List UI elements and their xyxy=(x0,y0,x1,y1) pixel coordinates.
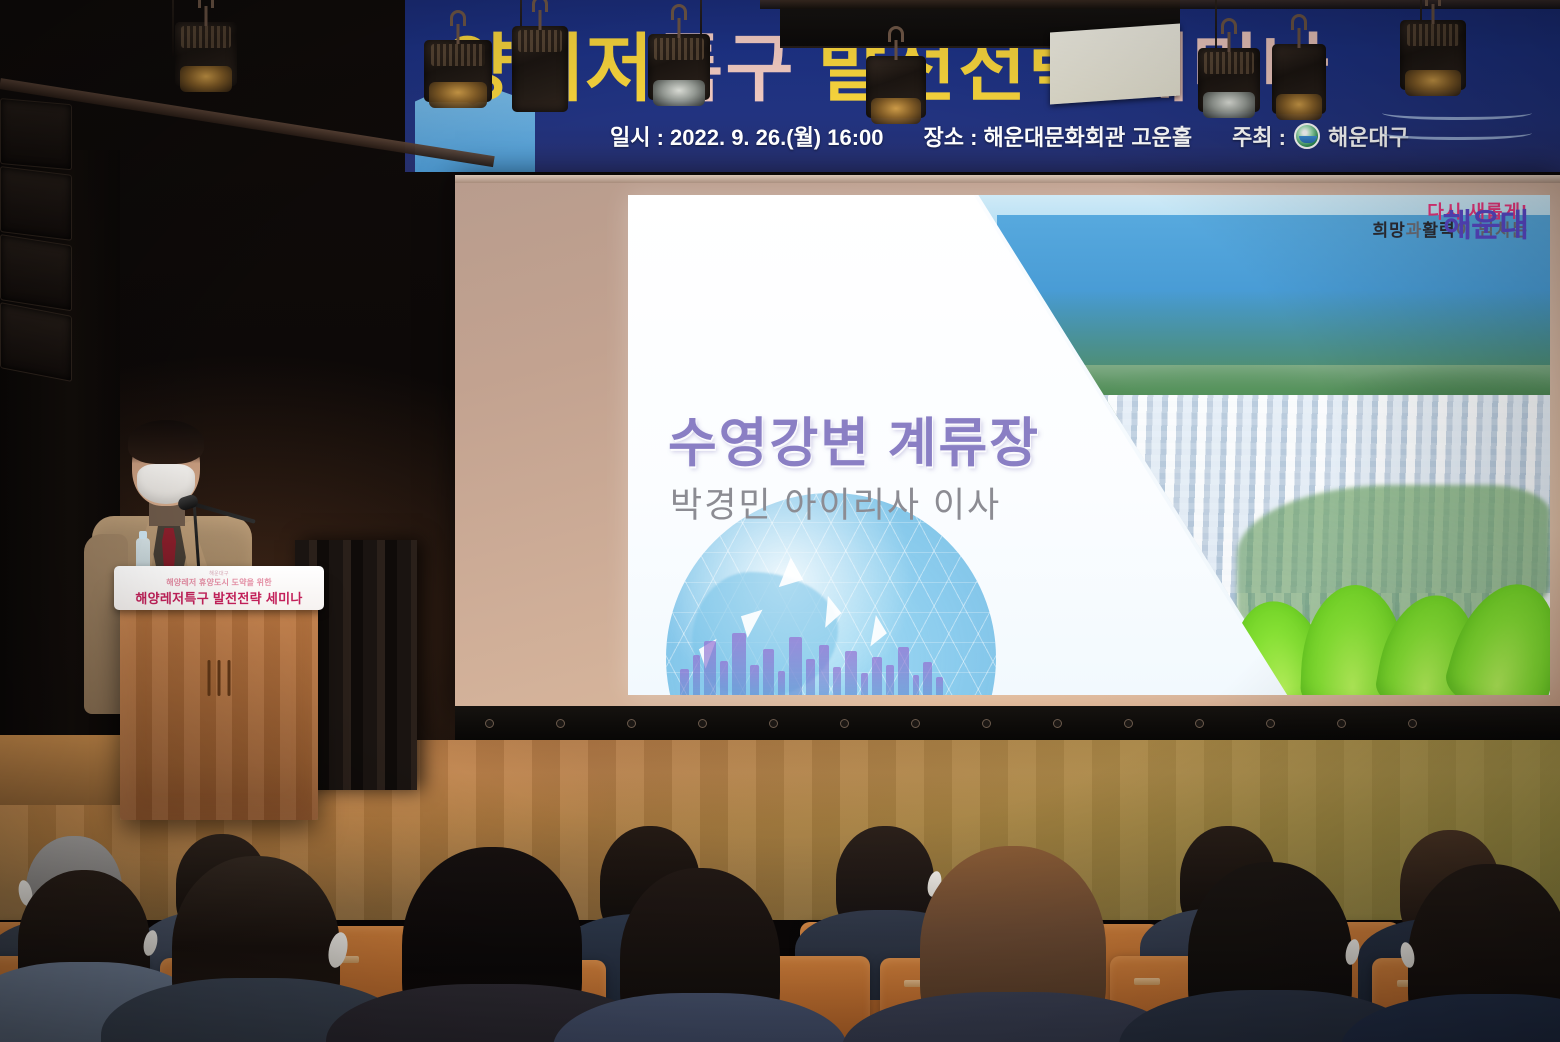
podium-sign: 해운대구 해양레저 휴양도시 도약을 위한 해양레저특구 발전전략 세미나 xyxy=(114,566,324,610)
slide-subtitle: 박경민 아이리사 이사 xyxy=(670,477,1150,528)
stage-light-icon xyxy=(1198,48,1260,112)
podium-vent-slots xyxy=(208,660,231,696)
audience-head xyxy=(620,868,780,1042)
screen-bolt xyxy=(1053,719,1062,728)
screen-bolt xyxy=(1195,719,1204,728)
rigging-cable xyxy=(172,0,174,56)
audience-head xyxy=(402,847,582,1042)
auditorium-seminar-photo: 양레저특구 발전전략 세미나 일시 : 2022. 9. 26.(월) 16:0… xyxy=(0,0,1560,1042)
audience-head xyxy=(920,846,1106,1042)
banner-info-row: 일시 : 2022. 9. 26.(월) 16:00 장소 : 해운대문화회관 … xyxy=(610,118,1409,154)
audience-head xyxy=(18,870,150,1020)
stage-light-icon xyxy=(175,22,237,86)
stage-light-icon xyxy=(1272,44,1326,114)
banner-date-label: 일시 : 2022. 9. 26.(월) 16:00 xyxy=(610,120,884,152)
screen-bolt xyxy=(698,719,707,728)
stage-light-icon xyxy=(1400,20,1466,90)
stage-light-icon xyxy=(424,40,492,102)
banner-wave-graphic-right xyxy=(1382,104,1542,158)
screen-bolt xyxy=(1408,719,1417,728)
presenter-hair xyxy=(128,420,204,464)
audience-head xyxy=(1188,862,1352,1042)
screen-bolt xyxy=(911,719,920,728)
audience-head xyxy=(172,856,340,1042)
screen-bolt xyxy=(1266,719,1275,728)
banner-date: 일시 : 2022. 9. 26.(월) 16:00 xyxy=(610,120,884,152)
podium-sign-title: 해양레저특구 발전전략 세미나 xyxy=(135,588,302,607)
presentation-slide: 수영강변 계류장 박경민 아이리사 이사 다시 새롭게! 희망과활력이 넘치는 … xyxy=(628,195,1550,695)
screen-bolt xyxy=(1337,719,1346,728)
slide-title: 수영강변 계류장 xyxy=(668,401,1148,477)
banner-host-label: 주최 : xyxy=(1232,120,1286,152)
city-skyline-graphic xyxy=(680,625,960,695)
line-array-speaker-icon xyxy=(0,98,72,370)
screen-bolt xyxy=(840,719,849,728)
logo-brand-haeundae: 해운대 xyxy=(1443,209,1528,243)
rigging-cable xyxy=(1215,0,1217,52)
green-leaves-graphic xyxy=(1230,563,1550,695)
stage-light-icon xyxy=(648,34,710,100)
screen-bolt xyxy=(769,719,778,728)
screen-bolt xyxy=(982,719,991,728)
banner-place: 장소 : 해운대문화회관 고운홀 xyxy=(924,120,1193,152)
stage-light-icon xyxy=(512,26,568,112)
stage-light-icon xyxy=(866,56,926,118)
audience xyxy=(0,760,1560,1042)
screen-bolt xyxy=(485,719,494,728)
haeundae-gu-emblem-icon xyxy=(1294,123,1320,149)
screen-bolt xyxy=(1124,719,1133,728)
banner-place-label: 장소 : 해운대문화회관 고운홀 xyxy=(924,120,1193,152)
screen-bolt xyxy=(556,719,565,728)
podium-sign-tiny: 해운대구 xyxy=(209,570,229,577)
ceiling-white-panel xyxy=(1050,23,1180,104)
logo-line2-a: 희망 xyxy=(1373,221,1406,240)
audience-head xyxy=(1408,864,1560,1042)
haeundae-brand-logo: 다시 새롭게! 희망과활력이 넘치는 해운대 xyxy=(1268,203,1528,273)
podium-sign-subtitle: 해양레저 휴양도시 도약을 위한 xyxy=(166,577,272,588)
screen-bolt xyxy=(627,719,636,728)
audience-head xyxy=(836,826,934,938)
logo-line2-b: 과 xyxy=(1406,221,1423,240)
screen-base-strip xyxy=(455,706,1560,740)
